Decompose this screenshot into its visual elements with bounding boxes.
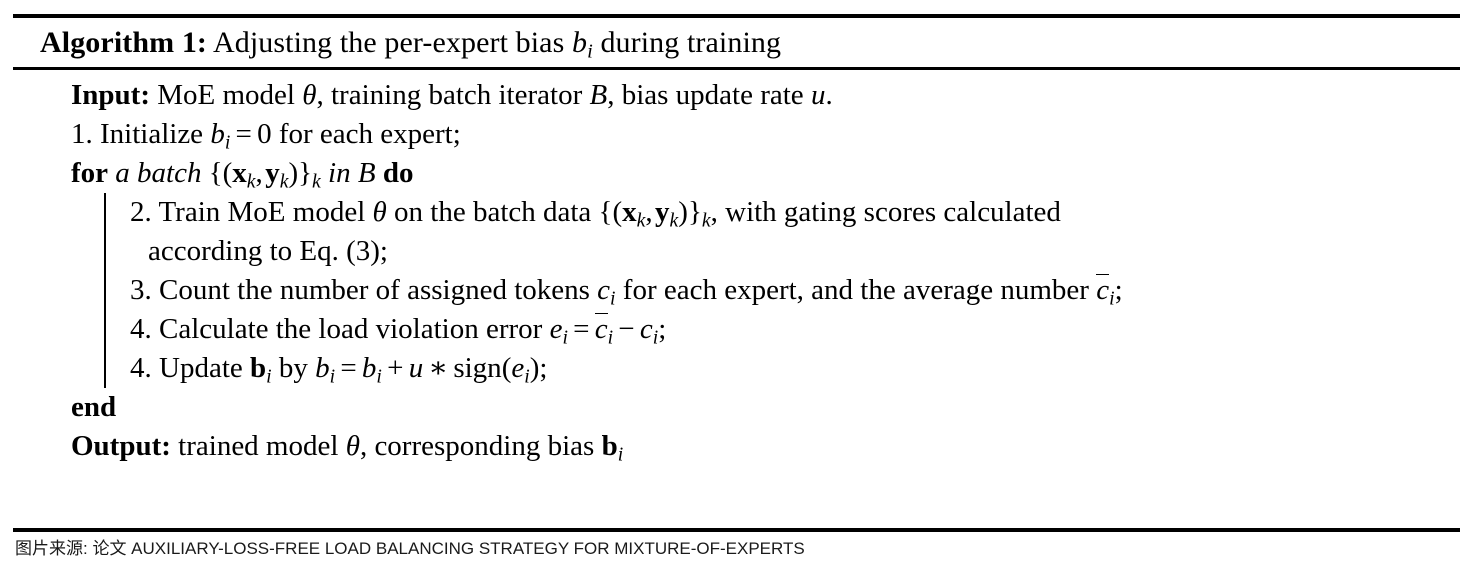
- step1-text-2: for each expert;: [279, 118, 461, 150]
- step4b-math-bold-b: bi: [250, 352, 272, 384]
- algorithm-body: Input: MoE model θ, training batch itera…: [13, 70, 1460, 474]
- output-text-2: , corresponding bias: [360, 430, 594, 462]
- step2-text-2: on the batch data: [394, 196, 591, 228]
- step2-math-batch-set: {(xk, yk)}k: [599, 196, 711, 228]
- algorithm-step-1: 1. Initialize bi=0 for each expert;: [13, 115, 1460, 154]
- algorithm-end-line: end: [13, 388, 1460, 427]
- step4b-math-rate: u: [409, 352, 424, 384]
- step2-text-1: Train MoE model: [158, 196, 365, 228]
- step4b-math-arg: (ei): [502, 352, 540, 384]
- step4b-math-plus: +: [382, 352, 409, 384]
- algorithm-step-2-continuation: according to Eq. (3);: [13, 232, 1460, 271]
- algorithm-input-line: Input: MoE model θ, training batch itera…: [13, 76, 1460, 115]
- step4a-math-ci: ci: [640, 313, 658, 345]
- input-text-1: MoE model: [157, 79, 295, 111]
- image-source-caption: 图片来源: 论文 AUXILIARY-LOSS-FREE LOAD BALANC…: [15, 537, 805, 561]
- output-keyword: Output:: [71, 430, 171, 462]
- step1-math-var: bi: [210, 118, 230, 150]
- input-math-theta: θ: [302, 79, 316, 111]
- for-text-2: in: [328, 157, 351, 189]
- output-math-theta: θ: [346, 430, 360, 462]
- step2-math-theta: θ: [373, 196, 387, 228]
- step1-number: 1.: [71, 118, 93, 150]
- step3-text-1: Count the number of assigned tokens: [159, 274, 590, 306]
- algorithm-title-math-var: bi: [572, 26, 593, 59]
- step4a-math-cbar-i: ci: [595, 313, 613, 345]
- input-text-2: , training batch iterator: [317, 79, 583, 111]
- step4b-math-fn-sign: sign: [453, 352, 501, 384]
- output-text-1: trained model: [178, 430, 338, 462]
- step4a-number: 4.: [130, 313, 152, 345]
- step4b-number: 4.: [130, 352, 152, 384]
- step4b-text-3: ;: [539, 352, 547, 384]
- step4b-text-2: by: [279, 352, 308, 384]
- step4a-text-2: ;: [658, 313, 666, 345]
- input-keyword: Input:: [71, 79, 150, 111]
- input-math-u: u: [811, 79, 826, 111]
- step3-number: 3.: [130, 274, 152, 306]
- step4b-text-1: Update: [159, 352, 243, 384]
- step1-math-val: 0: [257, 118, 272, 150]
- step3-math-ci: ci: [597, 274, 615, 306]
- step4a-math-minus: −: [613, 313, 640, 345]
- algorithm-block: Algorithm 1: Adjusting the per-expert bi…: [13, 14, 1460, 474]
- algorithm-title-text: Adjusting the per-expert bias: [213, 26, 564, 59]
- step4b-math-times: ∗: [423, 352, 453, 384]
- step3-math-cbar-i: ci: [1096, 274, 1114, 306]
- for-keyword-do: do: [383, 157, 414, 189]
- algorithm-step-2: 2. Train MoE model θ on the batch data {…: [13, 193, 1460, 232]
- algorithm-loop-body: 2. Train MoE model θ on the batch data {…: [13, 193, 1460, 388]
- step4a-text-1: Calculate the load violation error: [159, 313, 542, 345]
- step1-math-eq: =: [230, 118, 257, 150]
- step2-text-3: , with gating scores calculated: [711, 196, 1061, 228]
- algorithm-title: Algorithm 1: Adjusting the per-expert bi…: [13, 18, 1460, 67]
- step4a-math-ei: ei: [550, 313, 568, 345]
- input-text-4: .: [825, 79, 832, 111]
- for-math-iterator: B: [358, 157, 376, 189]
- algorithm-step-4b: 4. Update bi by bi=bi+u∗sign(ei);: [13, 349, 1460, 388]
- step4a-math-eq: =: [568, 313, 595, 345]
- output-math-bold-b: bi: [602, 430, 624, 462]
- step3-text-3: ;: [1115, 274, 1123, 306]
- algorithm-step-4a: 4. Calculate the load violation error ei…: [13, 310, 1460, 349]
- algorithm-page: Algorithm 1: Adjusting the per-expert bi…: [0, 0, 1473, 572]
- for-text-1: a batch: [115, 157, 201, 189]
- step3-text-2: for each expert, and the average number: [623, 274, 1089, 306]
- step1-text-1: Initialize: [100, 118, 203, 150]
- for-keyword: for: [71, 157, 108, 189]
- algorithm-title-tail: during training: [600, 26, 781, 59]
- step4b-math-eq: =: [335, 352, 362, 384]
- step4b-math-rhs-1: bi: [362, 352, 382, 384]
- for-math-batch-set: {(xk, yk)}k: [209, 157, 321, 189]
- input-text-3: , bias update rate: [607, 79, 803, 111]
- step2-number: 2.: [130, 196, 152, 228]
- algorithm-step-3: 3. Count the number of assigned tokens c…: [13, 271, 1460, 310]
- end-keyword: end: [71, 391, 116, 423]
- input-math-b: B: [589, 79, 607, 111]
- algorithm-bottom-rule: [13, 528, 1460, 532]
- algorithm-title-keyword: Algorithm 1:: [40, 26, 207, 59]
- algorithm-for-line: for a batch {(xk, yk)}k in B do: [13, 154, 1460, 193]
- algorithm-output-line: Output: trained model θ, corresponding b…: [13, 427, 1460, 466]
- step4b-math-lhs: bi: [315, 352, 335, 384]
